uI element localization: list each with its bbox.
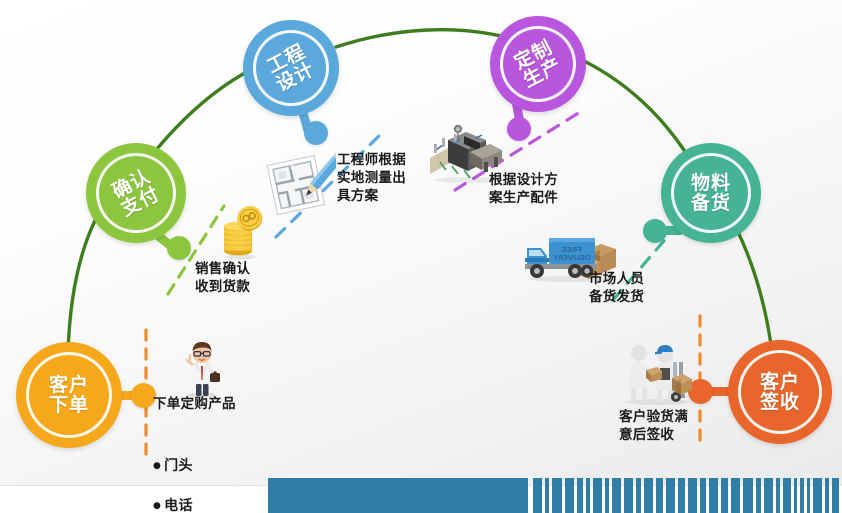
caption-order: 下单定购产品 门头 电话 网站	[153, 378, 236, 513]
barcode-stripe	[700, 478, 706, 513]
node-signoff[interactable]: 客户 签收	[728, 340, 832, 444]
node-stock-label-2: 备货	[691, 193, 731, 213]
caption-signoff: 客户验货满 意后签收	[619, 409, 688, 445]
barcode-stripe	[636, 478, 641, 513]
caption-pay: 销售确认 收到货款	[195, 261, 250, 297]
handover-package-icon	[616, 340, 700, 406]
node-stock-inner: 物料 备货	[671, 153, 751, 233]
barcode-stripe	[268, 478, 528, 513]
barcode-stripe	[624, 478, 633, 513]
node-produce[interactable]: 定制 生产	[490, 16, 586, 112]
svg-text:FREE: FREE	[562, 246, 582, 254]
barcode-stripe	[612, 478, 621, 513]
design-knob	[304, 121, 328, 145]
barcode-stripe	[533, 478, 541, 513]
barcode-stripe	[656, 478, 662, 513]
barcode-stripe	[605, 478, 608, 513]
caption-design: 工程师根据 实地测量出 具方案	[337, 152, 406, 205]
barcode-stripe	[593, 478, 603, 513]
blueprint-pencil-icon	[262, 152, 336, 224]
pay-knob	[167, 236, 191, 260]
caption-order-bullets: 门头 电话 网站	[153, 435, 236, 513]
node-signoff-label-1: 客户	[760, 372, 800, 392]
diagram-canvas: 客户 下单 确认 支付 工程 设计 定制 生产 物料 备货	[0, 0, 842, 513]
barcode-stripe	[552, 478, 562, 513]
produce-knob	[507, 117, 531, 141]
node-order[interactable]: 客户 下单	[16, 342, 122, 448]
node-pay[interactable]: 确认 支付	[86, 143, 186, 243]
barcode-stripe	[807, 478, 810, 513]
barcode-stripe	[666, 478, 675, 513]
node-order-label-2: 下单	[49, 395, 89, 415]
barcode-stripe	[644, 478, 654, 513]
stock-knob	[643, 219, 667, 243]
barcode-stripe	[756, 478, 761, 513]
caption-order-bullet-1: 电话	[153, 496, 236, 513]
barcode-stripe	[764, 478, 773, 513]
barcode-stripe	[794, 478, 797, 513]
barcode-stripe	[721, 478, 728, 513]
barcode-stripe	[678, 478, 685, 513]
caption-order-bullet-0: 门头	[153, 456, 236, 476]
footer-barcode-bar	[268, 478, 842, 513]
node-design[interactable]: 工程 设计	[243, 20, 339, 116]
node-order-inner: 客户 下单	[26, 352, 112, 438]
barcode-stripe	[586, 478, 590, 513]
caption-order-heading: 下单定购产品	[153, 396, 236, 414]
barcode-stripe	[688, 478, 697, 513]
svg-text:DELIVERY: DELIVERY	[552, 254, 591, 262]
barcode-stripe	[825, 478, 829, 513]
node-signoff-inner: 客户 签收	[738, 350, 822, 434]
arc-connector-layer	[0, 0, 842, 513]
barcode-stripe	[776, 478, 780, 513]
caption-produce: 根据设计方 案生产配件	[489, 172, 558, 208]
barcode-stripe	[565, 478, 574, 513]
node-stock[interactable]: 物料 备货	[661, 143, 761, 243]
node-stock-label-1: 物料	[691, 173, 731, 193]
barcode-stripe	[783, 478, 791, 513]
barcode-stripe	[577, 478, 582, 513]
barcode-stripe	[800, 478, 804, 513]
barcode-stripe	[832, 478, 839, 513]
node-order-label-1: 客户	[49, 375, 89, 395]
node-signoff-label-2: 签收	[760, 392, 800, 412]
hand-truck	[671, 362, 692, 402]
barcode-stripe	[813, 478, 822, 513]
barcode-stripe	[545, 478, 550, 513]
barcode-stripe	[743, 478, 753, 513]
barcode-stripe	[709, 478, 718, 513]
caption-stock: 市场人员 备货发货	[589, 271, 644, 307]
barcode-stripe	[731, 478, 740, 513]
gold-coins-icon	[218, 206, 264, 260]
